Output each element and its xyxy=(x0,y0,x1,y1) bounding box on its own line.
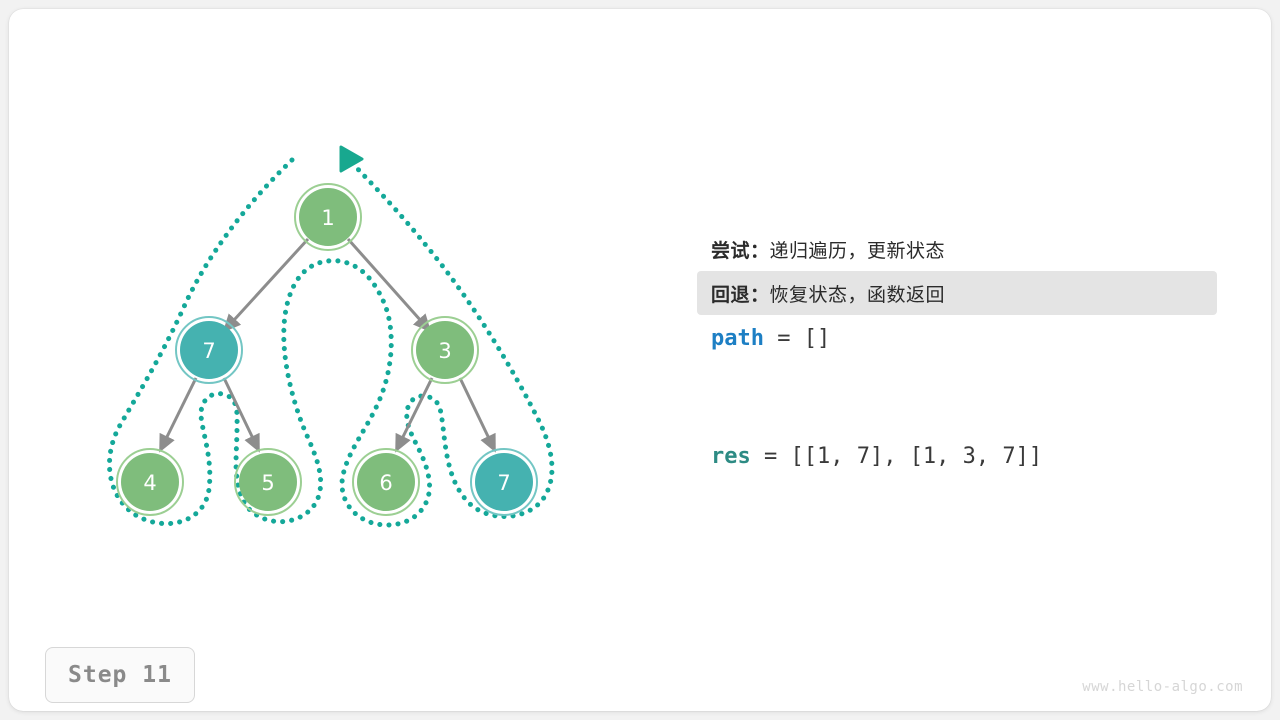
node-value: 5 xyxy=(261,471,274,495)
page-root: 1 7 3 4 xyxy=(0,0,1280,720)
tree-node[interactable]: 1 xyxy=(295,184,361,250)
code-spacer xyxy=(697,361,1217,433)
variable-value-path: = [] xyxy=(764,326,830,351)
variable-name-path: path xyxy=(711,326,764,351)
code-line-path: path = [] xyxy=(697,315,1217,361)
binary-tree-figure: 1 7 3 4 xyxy=(69,119,609,549)
tree-node[interactable]: 5 xyxy=(235,449,301,515)
node-value: 3 xyxy=(438,339,451,363)
code-line-res: res = [[1, 7], [1, 3, 7]] xyxy=(697,433,1217,479)
info-row-backtrack-label: 回退： xyxy=(711,280,770,307)
info-row-backtrack-text: 恢复状态，函数返回 xyxy=(770,280,946,307)
node-value: 4 xyxy=(143,471,156,495)
info-panel: 尝试： 递归遍历，更新状态 回退： 恢复状态，函数返回 path = [] re… xyxy=(697,227,1217,479)
tree-svg-canvas: 1 7 3 4 xyxy=(69,119,609,549)
tree-node[interactable]: 6 xyxy=(353,449,419,515)
variable-value-res: = [[1, 7], [1, 3, 7]] xyxy=(751,444,1042,469)
tree-node[interactable]: 7 xyxy=(176,317,242,383)
node-value: 7 xyxy=(497,471,510,495)
node-value: 6 xyxy=(379,471,392,495)
info-row-try: 尝试： 递归遍历，更新状态 xyxy=(697,227,1217,271)
step-badge-label: Step 11 xyxy=(68,662,172,688)
edge-3-7 xyxy=(460,378,495,451)
tree-node[interactable]: 7 xyxy=(471,449,537,515)
content-card: 1 7 3 4 xyxy=(9,9,1271,711)
info-row-try-label: 尝试： xyxy=(711,236,770,263)
edge-7-5 xyxy=(224,378,259,451)
node-value: 1 xyxy=(321,206,334,230)
node-value: 7 xyxy=(202,339,215,363)
step-badge: Step 11 xyxy=(45,647,195,703)
info-row-backtrack: 回退： 恢复状态，函数返回 xyxy=(697,271,1217,315)
variable-name-res: res xyxy=(711,444,751,469)
edge-7-4 xyxy=(160,378,196,451)
watermark: www.hello-algo.com xyxy=(1082,679,1243,695)
tree-node[interactable]: 4 xyxy=(117,449,183,515)
tree-node[interactable]: 3 xyxy=(412,317,478,383)
info-row-try-text: 递归遍历，更新状态 xyxy=(770,236,946,263)
